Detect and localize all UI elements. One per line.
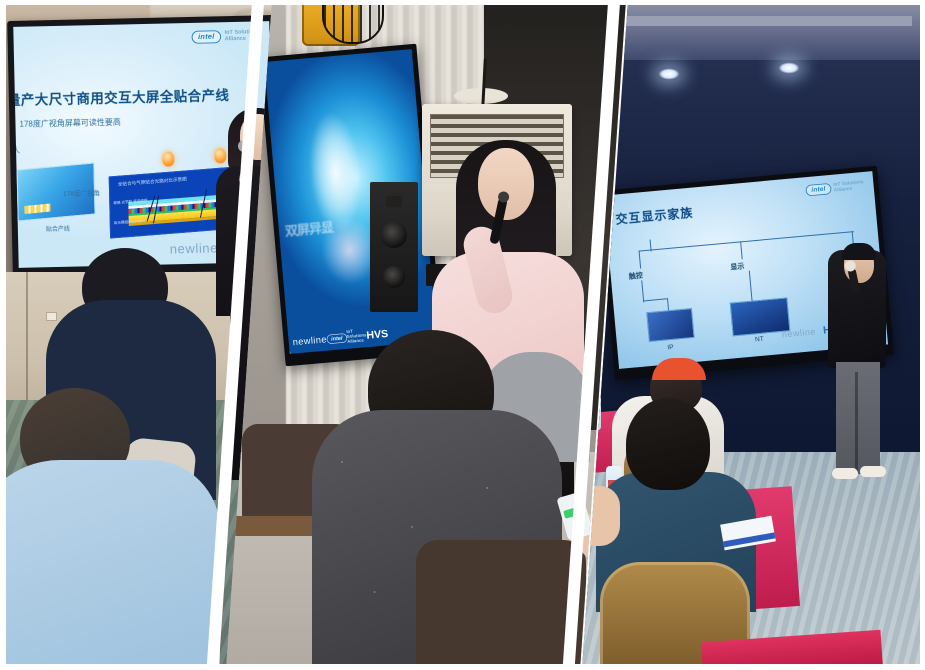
spotlight-1	[658, 68, 680, 80]
slide-note: 人	[13, 145, 20, 156]
product-thumbnail-ip	[646, 308, 695, 342]
speaker-cone-upper	[381, 222, 407, 248]
speaker-tweeter	[386, 196, 402, 207]
light-source-icon-left	[162, 151, 174, 166]
slide-tv-caption-bottom: 贴合产线	[46, 224, 70, 234]
ceiling	[582, 0, 925, 60]
spotlight-2	[778, 62, 800, 74]
display-logo-group: newline intel IoT Solutions Alliance HVS	[292, 327, 380, 349]
tree-branch-line-2	[740, 241, 743, 259]
photo-collage: intel IoT Solutions Alliance 量产大尺寸商用交互大屏…	[0, 0, 925, 670]
product-caption-ip: IP	[667, 344, 674, 352]
collage-panel-center: 双屏异显 newline intel IoT Solutions Allianc…	[226, 0, 626, 670]
tree-trunk-line	[639, 231, 854, 252]
tree-elbow-line-1	[643, 298, 667, 302]
audience-chair-2	[416, 540, 586, 670]
newline-logo: newline	[782, 327, 817, 340]
newline-logo: newline	[170, 240, 219, 256]
slide-logo-group-top: intel IoT Solutions Alliance	[805, 180, 866, 197]
hvs-logo: HVS	[366, 328, 389, 342]
pa-speaker	[370, 182, 418, 312]
frame-edge-left	[0, 0, 6, 670]
presenter-shoe-right	[860, 466, 886, 477]
tree-branch-line-1	[639, 251, 642, 269]
slide-title: 量产大尺寸商用交互大屏全贴合产线	[13, 84, 229, 109]
presenter-hair	[842, 243, 876, 260]
display-overlay-text: 双屏异显	[284, 217, 333, 240]
intel-logo: intel	[326, 333, 347, 344]
wall-outlet	[46, 312, 57, 321]
iot-solutions-alliance-logo: IoT Solutions Alliance	[346, 328, 367, 345]
newline-logo: newline	[292, 334, 327, 347]
presenter-shoe-left	[832, 468, 858, 479]
light-source-icon-right	[214, 148, 226, 163]
ceiling-beam	[612, 16, 912, 26]
diagram-label: 全贴合与气隙贴合光路对比示意图	[118, 176, 187, 187]
tree-leg-line-1	[641, 280, 644, 302]
product-caption-nt: NT	[755, 336, 764, 344]
iot-solutions-alliance-logo: IoT Solutions Alliance	[833, 180, 866, 194]
intel-logo: intel	[805, 183, 831, 196]
audience-head-2	[626, 398, 710, 490]
frame-edge-right	[920, 0, 925, 670]
presenter-legs	[836, 362, 880, 474]
intel-logo: intel	[192, 30, 222, 44]
frame-edge-top	[0, 0, 925, 5]
tree-stem-line	[650, 239, 652, 251]
slide-subtitle: 178度广视角屏幕可读性要高	[19, 117, 121, 130]
audience-body-2	[0, 460, 220, 670]
tree-label-display: 显示	[730, 261, 745, 272]
slide-tv-caption-right: 178度广视角	[63, 187, 100, 198]
speaker-cone-lower	[383, 266, 405, 288]
presenter-face	[478, 148, 534, 220]
collage-panel-right: ● 交互显示家族 intel IoT Solutions Alliance 触控…	[582, 0, 925, 670]
slide-title: 交互显示家族	[615, 204, 694, 228]
frame-edge-bottom	[0, 664, 925, 670]
